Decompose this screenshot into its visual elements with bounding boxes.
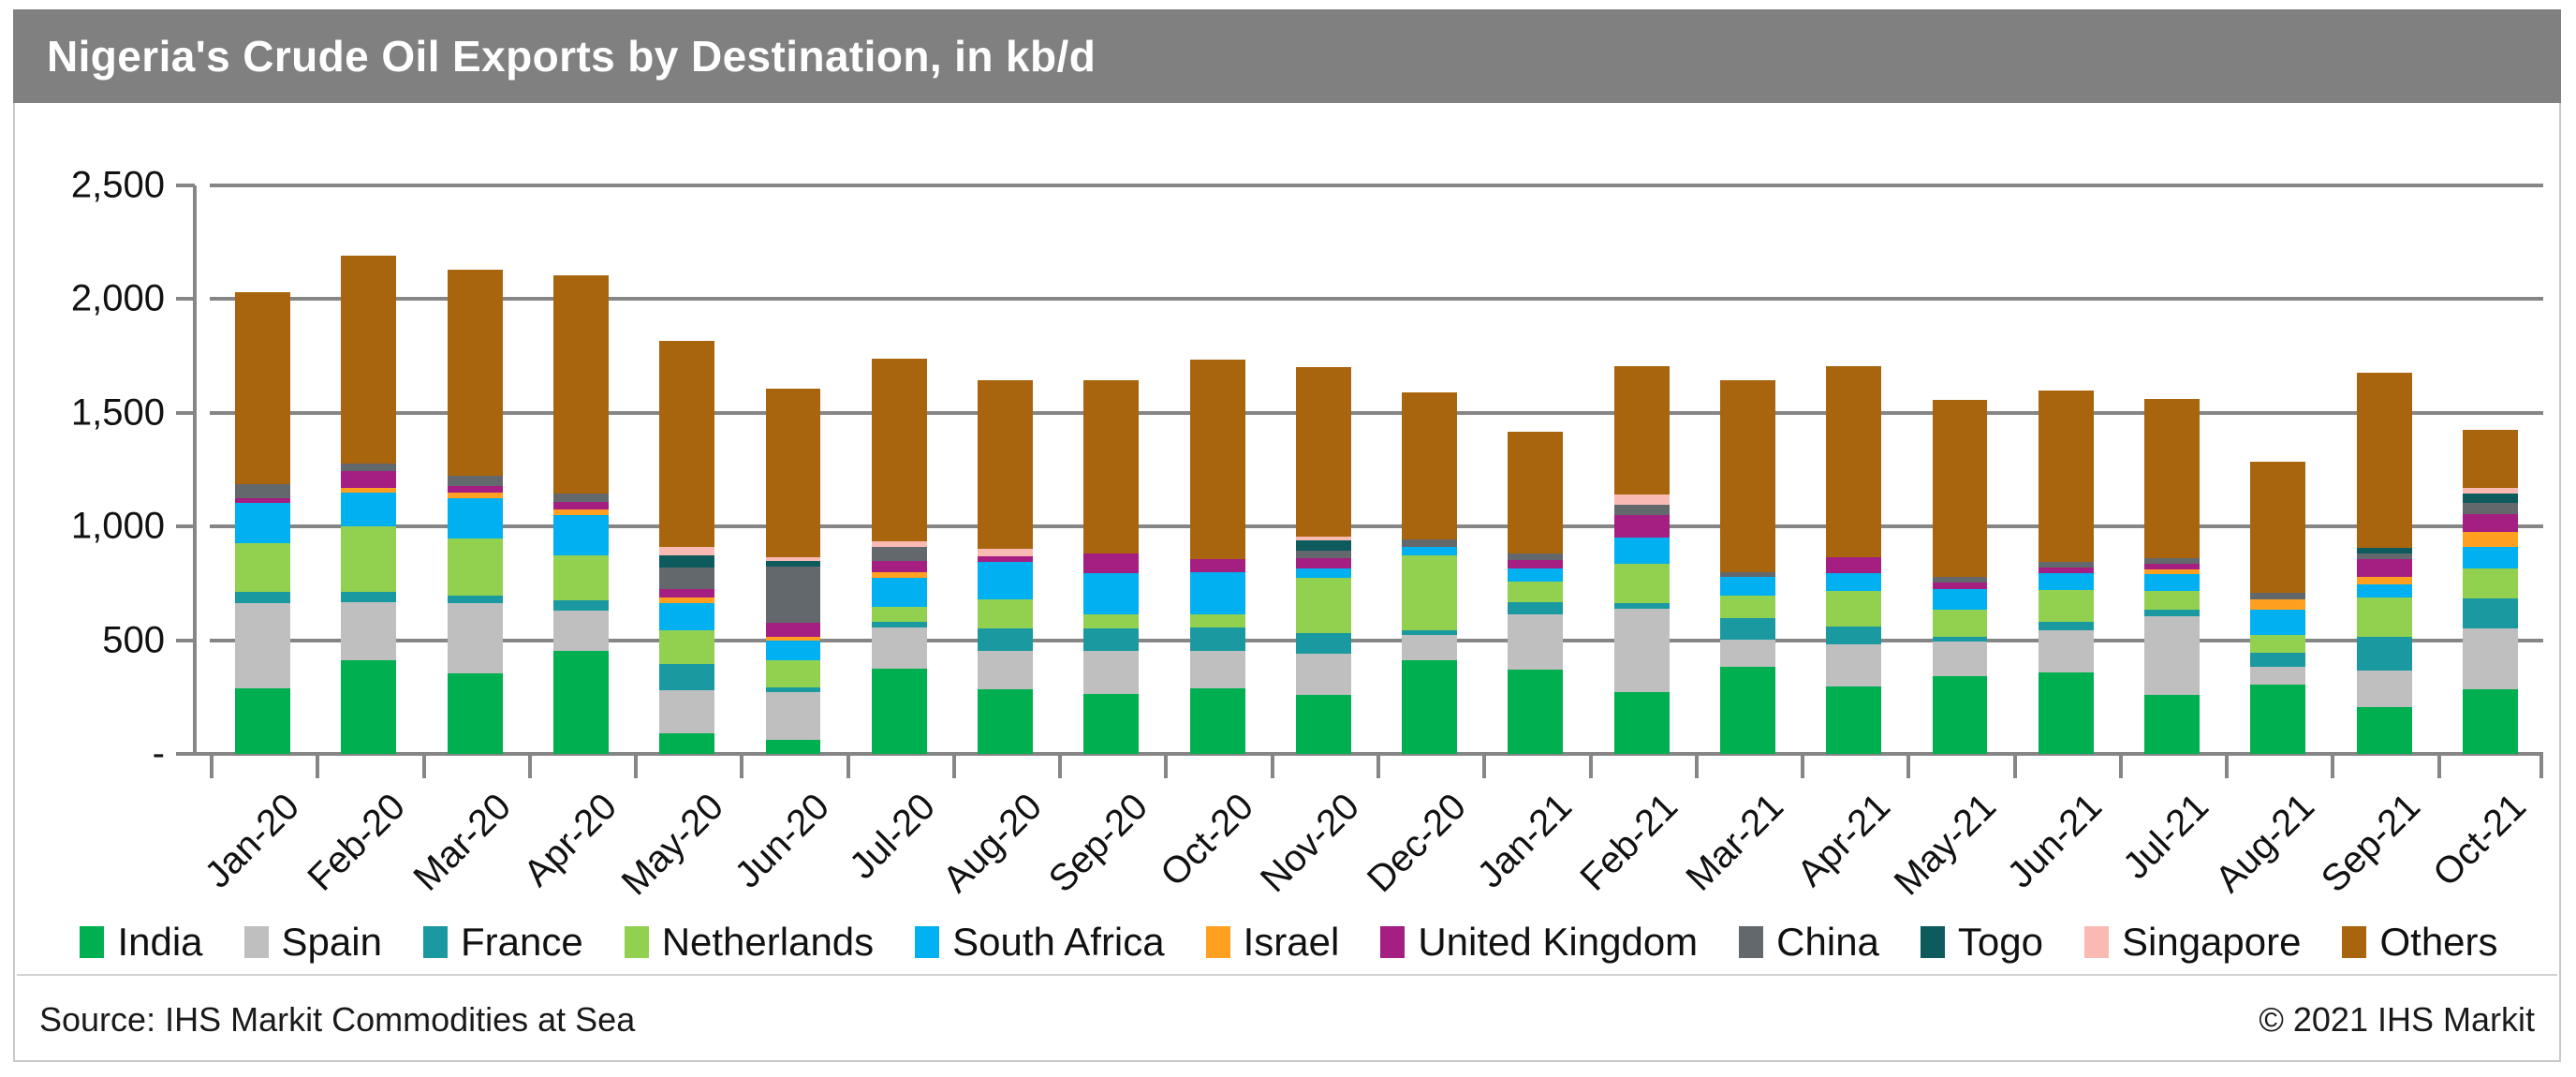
bar-segment[interactable] xyxy=(1402,635,1457,660)
bar-segment[interactable] xyxy=(1296,578,1351,633)
bar-segment[interactable] xyxy=(766,623,821,637)
legend-item-others[interactable]: Others xyxy=(2342,920,2497,965)
y-axis-tick-mark xyxy=(176,752,195,756)
legend-label: South Africa xyxy=(952,920,1164,965)
bar-segment[interactable] xyxy=(1933,400,1988,577)
bar-segment[interactable] xyxy=(1933,589,1988,610)
legend-label: Singapore xyxy=(2122,920,2301,965)
bar-segment[interactable] xyxy=(978,651,1033,689)
bar-stack[interactable] xyxy=(235,292,290,754)
bar-segment[interactable] xyxy=(2463,628,2518,688)
bar-segment[interactable] xyxy=(766,740,821,754)
bar-segment[interactable] xyxy=(766,660,821,687)
bar-segment[interactable] xyxy=(1190,688,1245,754)
bar-segment[interactable] xyxy=(448,603,503,673)
bar-segment[interactable] xyxy=(2463,598,2518,629)
legend-item-singapore[interactable]: Singapore xyxy=(2084,920,2301,965)
legend-item-spain[interactable]: Spain xyxy=(244,920,382,965)
bar-segment[interactable] xyxy=(872,607,927,622)
bar-stack[interactable] xyxy=(1083,380,1139,754)
bar-segment[interactable] xyxy=(2463,568,2518,598)
bar-segment[interactable] xyxy=(2039,622,2094,629)
bar-segment[interactable] xyxy=(1083,628,1139,650)
bar-segment[interactable] xyxy=(1614,515,1670,538)
bar-segment[interactable] xyxy=(341,660,396,754)
bar-segment[interactable] xyxy=(1402,555,1457,630)
y-axis-tick-mark xyxy=(176,639,195,642)
bar-segment[interactable] xyxy=(1083,614,1139,629)
bar-stack[interactable] xyxy=(1933,400,1988,754)
bar-segment[interactable] xyxy=(341,602,396,660)
bar-segment[interactable] xyxy=(1826,644,1881,686)
bar-segment[interactable] xyxy=(1190,627,1245,650)
bar-segment[interactable] xyxy=(2463,494,2518,503)
bar-segment[interactable] xyxy=(2039,391,2094,562)
y-axis-tick-label: 1,000 xyxy=(71,506,165,548)
bar-segment[interactable] xyxy=(1720,577,1775,595)
bar-segment[interactable] xyxy=(766,692,821,740)
bar-segment[interactable] xyxy=(553,611,609,652)
bar-segment[interactable] xyxy=(1826,591,1881,627)
legend-swatch-icon xyxy=(1739,926,1763,958)
bar-segment[interactable] xyxy=(341,526,396,592)
bar-segment[interactable] xyxy=(553,275,609,494)
bar-segment[interactable] xyxy=(1402,539,1457,547)
footer-divider xyxy=(17,974,2557,976)
y-axis-tick-mark xyxy=(176,524,195,528)
bar-segment[interactable] xyxy=(872,627,927,669)
bar-segment[interactable] xyxy=(553,515,609,556)
bar-stack[interactable] xyxy=(1826,366,1881,754)
legend-item-china[interactable]: China xyxy=(1739,920,1879,965)
bar-segment[interactable] xyxy=(1508,670,1563,754)
legend-item-israel[interactable]: Israel xyxy=(1206,920,1340,965)
bar-segment[interactable] xyxy=(2250,653,2305,667)
bar-segment[interactable] xyxy=(2039,630,2094,672)
bar-segment[interactable] xyxy=(2463,547,2518,568)
legend-swatch-icon xyxy=(2084,926,2109,958)
bar-segment[interactable] xyxy=(1614,505,1670,515)
bar-segment[interactable] xyxy=(1190,614,1245,628)
bar-segment[interactable] xyxy=(1826,686,1881,754)
bar-segment[interactable] xyxy=(2250,667,2305,685)
legend-label: China xyxy=(1776,920,1879,965)
bar-segment[interactable] xyxy=(2357,707,2412,754)
bar-segment[interactable] xyxy=(659,733,714,754)
bar-segment[interactable] xyxy=(1614,366,1670,494)
legend-item-united-kingdom[interactable]: United Kingdom xyxy=(1380,920,1698,965)
bar-segment[interactable] xyxy=(1826,557,1881,573)
bar-segment[interactable] xyxy=(1190,572,1245,614)
legend-swatch-icon xyxy=(625,926,649,958)
bar-segment[interactable] xyxy=(2250,599,2305,610)
plot-wrapper: -5001,0001,5002,0002,500 Jan-20Feb-20Mar… xyxy=(15,103,2563,1062)
legend-label: France xyxy=(461,920,583,965)
bar-segment[interactable] xyxy=(2463,689,2518,754)
bar-segment[interactable] xyxy=(341,464,396,470)
bar-segment[interactable] xyxy=(659,555,714,568)
bar-segment[interactable] xyxy=(659,690,714,733)
bar-segment[interactable] xyxy=(1720,596,1775,618)
bar-stack[interactable] xyxy=(2463,430,2518,754)
legend-swatch-icon xyxy=(423,926,448,958)
bar-segment[interactable] xyxy=(2250,610,2305,635)
y-axis-line xyxy=(193,185,197,754)
bar-segment[interactable] xyxy=(235,688,290,754)
bar-segment[interactable] xyxy=(1614,494,1670,505)
bar-stack[interactable] xyxy=(1508,432,1563,754)
bar-segment[interactable] xyxy=(2357,671,2412,707)
bar-stack[interactable] xyxy=(2144,399,2200,754)
bar-segment[interactable] xyxy=(2463,532,2518,547)
bar-stack[interactable] xyxy=(766,389,821,754)
bar-segment[interactable] xyxy=(1720,618,1775,640)
bar-segment[interactable] xyxy=(872,359,927,541)
bar-segment[interactable] xyxy=(448,498,503,538)
legend-label: United Kingdom xyxy=(1418,920,1698,965)
bar-segment[interactable] xyxy=(978,628,1033,651)
bar-segment[interactable] xyxy=(2250,685,2305,754)
bar-segment[interactable] xyxy=(2357,577,2412,584)
bar-segment[interactable] xyxy=(1190,651,1245,688)
chart-footer: Source: IHS Markit Commodities at Sea © … xyxy=(15,989,2563,1060)
bar-segment[interactable] xyxy=(978,549,1033,556)
bar-segment[interactable] xyxy=(553,651,609,754)
bar-segment[interactable] xyxy=(1614,538,1670,564)
bar-stack[interactable] xyxy=(553,275,609,754)
bar-segment[interactable] xyxy=(1720,380,1775,572)
bar-segment[interactable] xyxy=(1296,654,1351,695)
bar-segment[interactable] xyxy=(235,503,290,542)
bar-segment[interactable] xyxy=(1508,432,1563,553)
bar-segment[interactable] xyxy=(1933,583,1988,589)
bar-segment[interactable] xyxy=(448,270,503,476)
bar-stack[interactable] xyxy=(1296,367,1351,754)
bar-segment[interactable] xyxy=(1508,614,1563,669)
bar-segment[interactable] xyxy=(872,669,927,754)
legend-item-netherlands[interactable]: Netherlands xyxy=(625,920,874,965)
bar-segment[interactable] xyxy=(1933,676,1988,754)
bar-stack[interactable] xyxy=(1190,360,1245,754)
y-axis-tick-label: 1,500 xyxy=(71,391,165,434)
bar-segment[interactable] xyxy=(978,562,1033,599)
bar-segment[interactable] xyxy=(448,538,503,596)
bar-segment[interactable] xyxy=(1296,540,1351,551)
chart-card-body: -5001,0001,5002,0002,500 Jan-20Feb-20Mar… xyxy=(13,103,2561,1062)
bar-segment[interactable] xyxy=(2144,591,2200,609)
bar-segment[interactable] xyxy=(1933,642,1988,677)
legend-label: Others xyxy=(2379,920,2497,965)
bar-segment[interactable] xyxy=(659,341,714,547)
bar-segment[interactable] xyxy=(1402,392,1457,539)
bar-stack[interactable] xyxy=(2039,391,2094,754)
bar-segment[interactable] xyxy=(659,568,714,589)
bar-segment[interactable] xyxy=(2463,503,2518,514)
bar-segment[interactable] xyxy=(1508,582,1563,602)
legend-swatch-icon xyxy=(915,926,939,958)
chart-header-bar: Nigeria's Crude Oil Exports by Destinati… xyxy=(13,9,2561,103)
bar-segment[interactable] xyxy=(2463,430,2518,488)
legend-item-india[interactable]: India xyxy=(80,920,202,965)
bar-segment[interactable] xyxy=(872,547,927,561)
bar-stack[interactable] xyxy=(1614,366,1670,754)
y-axis-tick-mark xyxy=(176,411,195,415)
bar-segment[interactable] xyxy=(1826,366,1881,557)
bar-stack[interactable] xyxy=(659,341,714,754)
legend-swatch-icon xyxy=(80,926,104,958)
bar-segment[interactable] xyxy=(341,471,396,488)
legend-swatch-icon xyxy=(1921,926,1945,958)
bar-segment[interactable] xyxy=(659,589,714,597)
bar-segment[interactable] xyxy=(235,543,290,592)
bar-stack[interactable] xyxy=(1720,380,1775,754)
bar-segment[interactable] xyxy=(553,600,609,611)
y-axis-tick-label: 500 xyxy=(102,619,165,661)
bar-segment[interactable] xyxy=(1190,360,1245,560)
bar-segment[interactable] xyxy=(1296,695,1351,754)
gridline xyxy=(210,184,2543,187)
bar-segment[interactable] xyxy=(1826,573,1881,591)
bar-segment[interactable] xyxy=(448,596,503,603)
bar-segment[interactable] xyxy=(341,256,396,464)
bar-segment[interactable] xyxy=(978,380,1033,548)
bar-segment[interactable] xyxy=(1190,559,1245,571)
bar-segment[interactable] xyxy=(448,486,503,493)
bar-segment[interactable] xyxy=(1508,568,1563,583)
bar-segment[interactable] xyxy=(553,555,609,599)
bar-segment[interactable] xyxy=(553,502,609,509)
bar-segment[interactable] xyxy=(1508,553,1563,560)
bar-segment[interactable] xyxy=(2144,616,2200,695)
bar-segment[interactable] xyxy=(1083,380,1139,554)
legend-swatch-icon xyxy=(244,926,269,958)
bar-segment[interactable] xyxy=(2357,637,2412,671)
bar-segment[interactable] xyxy=(1508,560,1563,568)
bar-segment[interactable] xyxy=(659,630,714,664)
bar-segment[interactable] xyxy=(659,664,714,690)
bar-segment[interactable] xyxy=(1296,551,1351,558)
bar-segment[interactable] xyxy=(2144,695,2200,754)
bar-segment[interactable] xyxy=(1614,564,1670,603)
bar-segment[interactable] xyxy=(1083,651,1139,694)
bar-segment[interactable] xyxy=(1296,568,1351,578)
bar-stack[interactable] xyxy=(978,380,1033,754)
bar-segment[interactable] xyxy=(341,493,396,525)
bar-segment[interactable] xyxy=(1083,694,1139,754)
chart-card: Nigeria's Crude Oil Exports by Destinati… xyxy=(13,9,2561,1062)
bar-stack[interactable] xyxy=(2357,373,2412,754)
bar-segment[interactable] xyxy=(2250,635,2305,653)
bar-segment[interactable] xyxy=(2357,373,2412,548)
source-note: Source: IHS Markit Commodities at Sea xyxy=(39,1000,635,1040)
bar-segment[interactable] xyxy=(235,592,290,603)
bar-stack[interactable] xyxy=(2250,462,2305,754)
y-axis-tick-label: - xyxy=(153,733,165,775)
bar-stack[interactable] xyxy=(872,359,927,754)
bar-segment[interactable] xyxy=(1296,633,1351,654)
bar-segment[interactable] xyxy=(1614,692,1670,754)
bar-segment[interactable] xyxy=(978,689,1033,754)
y-axis-tick-label: 2,500 xyxy=(71,165,165,207)
bar-segment[interactable] xyxy=(2357,584,2412,597)
bar-segment[interactable] xyxy=(872,578,927,608)
bar-segment[interactable] xyxy=(553,494,609,501)
bar-segment[interactable] xyxy=(2039,573,2094,590)
bar-segment[interactable] xyxy=(2250,593,2305,599)
bar-segment[interactable] xyxy=(235,603,290,688)
bar-segment[interactable] xyxy=(2357,598,2412,637)
bar-segment[interactable] xyxy=(448,476,503,486)
bar-segment[interactable] xyxy=(1083,553,1139,573)
chart-title: Nigeria's Crude Oil Exports by Destinati… xyxy=(47,31,1096,81)
bar-segment[interactable] xyxy=(1614,609,1670,692)
bar-segment[interactable] xyxy=(235,292,290,484)
bar-segment[interactable] xyxy=(235,484,290,498)
bar-segment[interactable] xyxy=(659,547,714,554)
bar-segment[interactable] xyxy=(1826,627,1881,644)
bar-segment[interactable] xyxy=(341,592,396,602)
bar-segment[interactable] xyxy=(1083,573,1139,614)
legend-item-togo[interactable]: Togo xyxy=(1921,920,2043,965)
bar-segment[interactable] xyxy=(659,603,714,630)
y-axis-tick-mark xyxy=(176,297,195,301)
bar-segment[interactable] xyxy=(1720,640,1775,667)
legend-item-france[interactable]: France xyxy=(423,920,583,965)
legend-swatch-icon xyxy=(1206,926,1230,958)
bar-segment[interactable] xyxy=(766,567,821,622)
chart-screenshot: Nigeria's Crude Oil Exports by Destinati… xyxy=(0,0,2576,1077)
bar-stack[interactable] xyxy=(1402,392,1457,754)
bar-segment[interactable] xyxy=(1933,610,1988,637)
bar-segment[interactable] xyxy=(2039,672,2094,754)
copyright-note: © 2021 IHS Markit xyxy=(2259,1000,2535,1040)
bar-segment[interactable] xyxy=(2144,399,2200,558)
legend-label: Netherlands xyxy=(662,920,874,965)
bar-segment[interactable] xyxy=(1508,602,1563,614)
bar-stack[interactable] xyxy=(341,256,396,754)
legend-swatch-icon xyxy=(2342,926,2366,958)
bar-segment[interactable] xyxy=(766,389,821,556)
x-axis-labels: Jan-20Feb-20Mar-20Apr-20May-20Jun-20Jul-… xyxy=(210,754,2543,922)
chart-legend: IndiaSpainFranceNetherlandsSouth AfricaI… xyxy=(15,920,2563,965)
bar-stack[interactable] xyxy=(448,270,503,754)
y-axis-tick-mark xyxy=(176,184,195,187)
y-axis-tick-label: 2,000 xyxy=(71,278,165,320)
legend-label: Israel xyxy=(1244,920,1340,965)
bar-segment[interactable] xyxy=(2039,590,2094,622)
bar-segment[interactable] xyxy=(1402,547,1457,554)
bar-segment[interactable] xyxy=(2463,514,2518,532)
bar-segment[interactable] xyxy=(2250,462,2305,593)
legend-swatch-icon xyxy=(1380,926,1405,958)
legend-label: India xyxy=(117,920,202,965)
bar-segment[interactable] xyxy=(1296,558,1351,568)
bar-segment[interactable] xyxy=(978,599,1033,627)
bar-segment[interactable] xyxy=(766,641,821,660)
legend-item-south-africa[interactable]: South Africa xyxy=(915,920,1164,965)
bar-segment[interactable] xyxy=(448,673,503,754)
bar-segment[interactable] xyxy=(2144,610,2200,616)
legend-label: Spain xyxy=(282,920,382,965)
bar-segment[interactable] xyxy=(1720,667,1775,754)
plot-area: -5001,0001,5002,0002,500 xyxy=(210,185,2543,754)
bar-segment[interactable] xyxy=(2357,559,2412,576)
bar-segment[interactable] xyxy=(1402,660,1457,754)
bar-segment[interactable] xyxy=(1296,367,1351,537)
bar-segment[interactable] xyxy=(872,561,927,572)
bar-segment[interactable] xyxy=(2144,574,2200,591)
legend-label: Togo xyxy=(1958,920,2043,965)
